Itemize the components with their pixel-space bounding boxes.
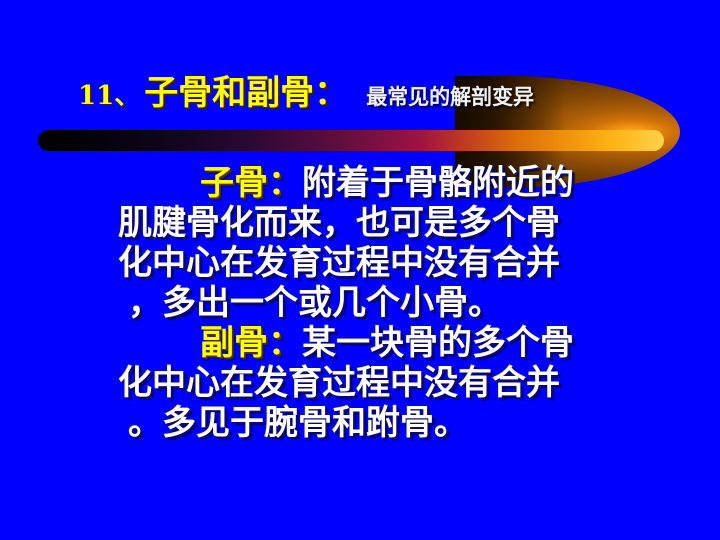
slide-title: 11、 子骨和副骨： 最常见的解剖变异 <box>78 76 678 124</box>
title-subtitle: 最常见的解剖变异 <box>366 86 534 107</box>
slide-canvas: 11、 子骨和副骨： 最常见的解剖变异 子骨：附着于骨骼附近的 肌腱骨化而来，也… <box>0 0 720 540</box>
body-line: 化中心在发育过程中没有合并 <box>118 363 604 403</box>
body-line-text: 某一块骨的多个骨 <box>302 323 574 363</box>
gradient-bar <box>38 130 664 151</box>
body-line: 化中心在发育过程中没有合并 <box>118 243 604 283</box>
body-line-text: 附着于骨骼附近的 <box>302 163 574 203</box>
body-text-block: 子骨：附着于骨骼附近的 肌腱骨化而来，也可是多个骨 化中心在发育过程中没有合并 … <box>118 163 604 443</box>
keyword-fugu: 副骨： <box>200 323 302 363</box>
body-line: 肌腱骨化而来，也可是多个骨 <box>118 203 604 243</box>
body-line: 子骨：附着于骨骼附近的 <box>118 163 604 203</box>
keyword-zigu: 子骨： <box>200 163 302 203</box>
body-line: 。多见于腕骨和跗骨。 <box>118 403 604 443</box>
title-main-text: 子骨和副骨： <box>144 76 348 110</box>
body-line: ，多出一个或几个小骨。 <box>118 283 604 323</box>
body-line: 副骨：某一块骨的多个骨 <box>118 323 604 363</box>
title-number: 11、 <box>78 83 140 109</box>
